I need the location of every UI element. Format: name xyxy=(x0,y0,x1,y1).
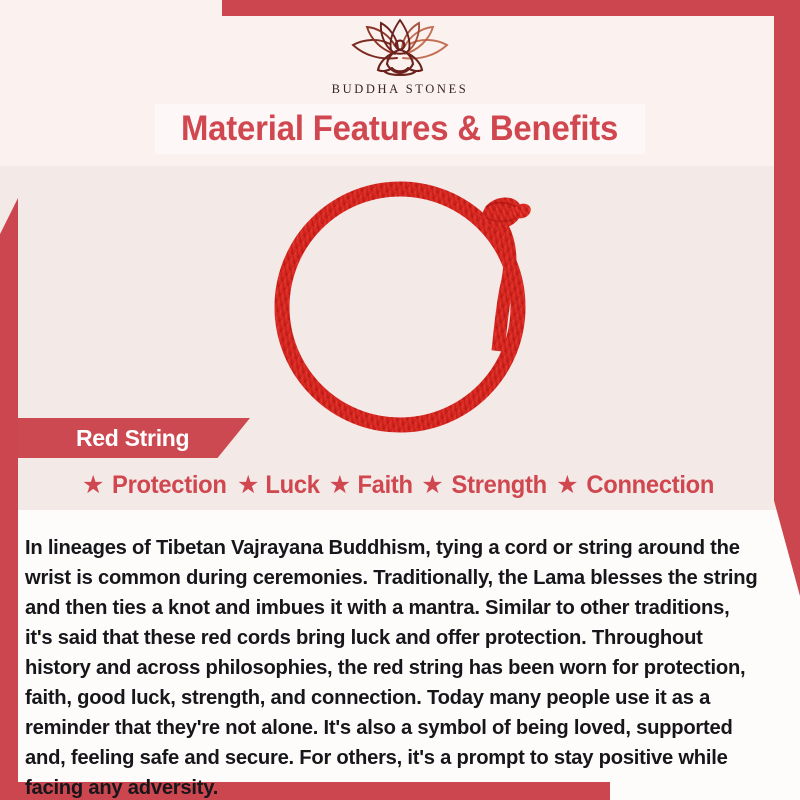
benefit-label: Strength xyxy=(451,471,546,500)
infographic-card: BUDDHA STONES Material Features & Benefi… xyxy=(0,0,800,800)
benefit-item-luck: ★ Luck xyxy=(237,471,322,500)
product-name-banner: Red String xyxy=(18,418,250,458)
star-icon: ★ xyxy=(237,473,259,498)
brand-logo: BUDDHA STONES xyxy=(0,14,800,97)
benefit-item-protection: ★ Protection xyxy=(82,471,230,500)
star-icon: ★ xyxy=(556,473,578,498)
benefit-label: Faith xyxy=(358,471,413,500)
product-image-area xyxy=(0,160,800,460)
product-name-label: Red String xyxy=(76,425,189,452)
page-title-plate: Material Features & Benefits xyxy=(155,104,645,154)
benefits-list: ★ Protection ★ Luck ★ Faith ★ Strength ★… xyxy=(0,466,800,504)
description-paragraph: In lineages of Tibetan Vajrayana Buddhis… xyxy=(25,533,762,800)
brand-wordmark: BUDDHA STONES xyxy=(0,82,800,97)
red-braided-string-bracelet-icon xyxy=(262,165,562,435)
star-icon: ★ xyxy=(82,473,104,498)
star-icon: ★ xyxy=(329,473,351,498)
benefit-label: Protection xyxy=(112,471,227,500)
benefit-item-connection: ★ Connection xyxy=(556,471,718,500)
benefit-label: Luck xyxy=(266,471,320,500)
lotus-meditation-icon xyxy=(335,14,465,80)
page-title: Material Features & Benefits xyxy=(181,109,618,149)
benefit-label: Connection xyxy=(587,471,715,500)
star-icon: ★ xyxy=(421,473,443,498)
benefit-item-strength: ★ Strength xyxy=(421,471,549,500)
benefit-item-faith: ★ Faith xyxy=(329,471,415,500)
